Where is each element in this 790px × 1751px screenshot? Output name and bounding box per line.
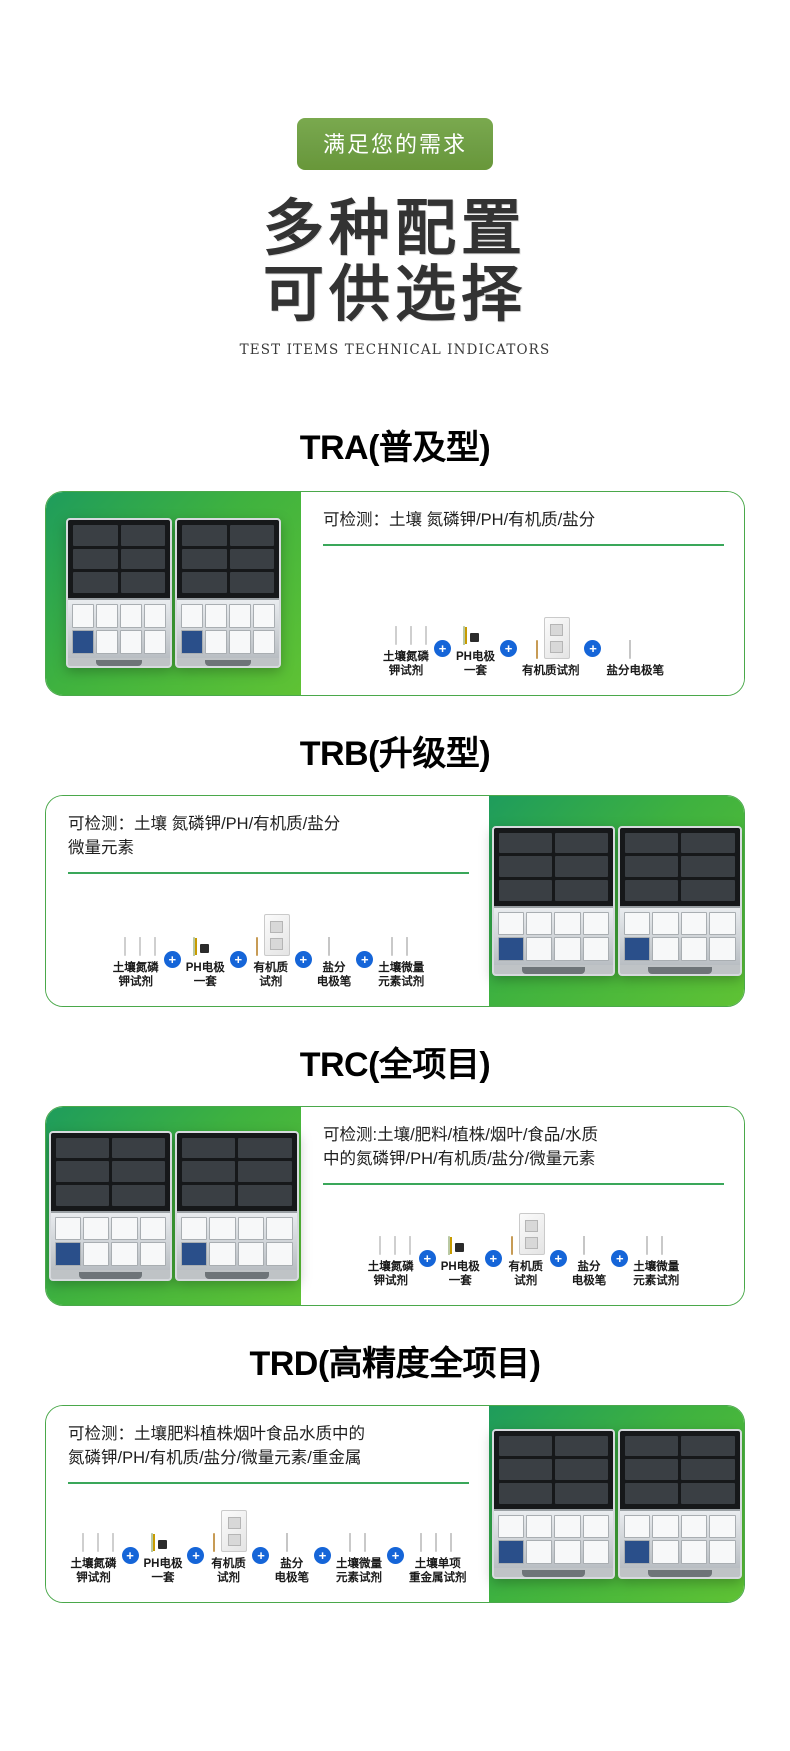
divider	[323, 1183, 724, 1185]
organic-reagent-icon	[252, 914, 290, 956]
plus-icon	[314, 1547, 331, 1564]
included-item: 盐分 电极笔	[274, 1496, 309, 1586]
salinity-pen-icon	[286, 1534, 298, 1552]
micro-element-bottles-icon	[642, 1237, 670, 1255]
card-info-pane: 可检测：土壤 氮磷钾/PH/有机质/盐分微量元素土壤氮磷 钾试剂PH电极 一套有…	[46, 796, 489, 1006]
included-item: 土壤微量 元素试剂	[378, 900, 424, 990]
ph-electrode-icon	[193, 938, 217, 956]
test-kit-case-photo	[492, 826, 742, 976]
included-item: PH电极 一套	[441, 1199, 480, 1289]
micro-element-bottles-icon	[387, 938, 415, 956]
card-photo-pane	[489, 1406, 744, 1602]
test-kit-case-photo	[49, 1131, 299, 1281]
plus-icon	[356, 951, 373, 968]
included-item: 盐分 电极笔	[572, 1199, 607, 1289]
item-art	[385, 589, 428, 645]
plus-icon	[611, 1250, 628, 1267]
test-kit-case-photo	[66, 518, 281, 668]
product-card-0[interactable]: 可检测：土壤 氮磷钾/PH/有机质/盐分土壤氮磷 钾试剂PH电极 一套有机质试剂…	[45, 491, 745, 696]
hero-badge: 满足您的需求	[297, 118, 493, 170]
included-item: 土壤微量 元素试剂	[633, 1199, 679, 1289]
included-item: 有机质试剂	[522, 603, 580, 678]
included-items-row: 土壤氮磷 钾试剂PH电极 一套有机质 试剂盐分 电极笔土壤微量 元素试剂	[68, 880, 469, 990]
detect-line-1: 中的氮磷钾/PH/有机质/盐分/微量元素	[323, 1148, 724, 1172]
card-info-pane: 可检测：土壤 氮磷钾/PH/有机质/盐分土壤氮磷 钾试剂PH电极 一套有机质试剂…	[301, 492, 744, 695]
item-art	[629, 603, 641, 659]
item-label: 土壤微量 元素试剂	[633, 1260, 679, 1289]
ph-electrode-icon	[151, 1534, 175, 1552]
ph-electrode-icon	[463, 627, 487, 645]
item-art	[448, 1199, 472, 1255]
item-label: 有机质 试剂	[253, 961, 288, 990]
divider	[68, 872, 469, 874]
plus-icon	[122, 1547, 139, 1564]
included-item: 有机质 试剂	[252, 900, 290, 990]
included-item: 土壤单项 重金属试剂	[409, 1496, 467, 1586]
reagent-bottles-icon	[72, 1534, 115, 1552]
item-art	[209, 1496, 247, 1552]
included-item: 盐分 电极笔	[317, 900, 352, 990]
detect-text: 可检测：土壤 氮磷钾/PH/有机质/盐分微量元素	[68, 813, 469, 861]
item-label: PH电极 一套	[144, 1557, 183, 1586]
item-art	[416, 1496, 459, 1552]
included-items-row: 土壤氮磷 钾试剂PH电极 一套有机质 试剂盐分 电极笔土壤微量 元素试剂土壤单项…	[68, 1490, 469, 1586]
detect-line-1: 氮磷钾/PH/有机质/盐分/微量元素/重金属	[68, 1447, 469, 1471]
item-art	[286, 1496, 298, 1552]
detect-text: 可检测:土壤/肥料/植株/烟叶/食品/水质中的氮磷钾/PH/有机质/盐分/微量元…	[323, 1124, 724, 1172]
salinity-pen-icon	[583, 1237, 595, 1255]
page-subtitle: TEST ITEMS TECHNICAL INDICATORS	[0, 342, 790, 358]
included-item: PH电极 一套	[144, 1496, 183, 1586]
card-info-pane: 可检测：土壤肥料植株烟叶食品水质中的氮磷钾/PH/有机质/盐分/微量元素/重金属…	[46, 1406, 489, 1602]
reagent-bottles-icon	[369, 1237, 412, 1255]
plus-icon	[550, 1250, 567, 1267]
item-label: 有机质 试剂	[508, 1260, 543, 1289]
plus-icon	[584, 640, 601, 657]
item-art	[252, 900, 290, 956]
included-item: 土壤氮磷 钾试剂	[383, 589, 429, 679]
test-kit-case-photo	[492, 1429, 742, 1579]
plus-icon	[434, 640, 451, 657]
item-art	[583, 1199, 595, 1255]
included-item: 土壤氮磷 钾试剂	[113, 900, 159, 990]
included-item: 有机质 试剂	[209, 1496, 247, 1586]
product-card-3[interactable]: 可检测：土壤肥料植株烟叶食品水质中的氮磷钾/PH/有机质/盐分/微量元素/重金属…	[45, 1405, 745, 1603]
divider	[323, 544, 724, 546]
salinity-pen-icon	[629, 641, 641, 659]
item-art	[387, 900, 415, 956]
item-label: 盐分 电极笔	[274, 1557, 309, 1586]
plus-icon	[419, 1250, 436, 1267]
detect-line-0: 可检测：土壤 氮磷钾/PH/有机质/盐分	[323, 509, 724, 533]
card-info-pane: 可检测:土壤/肥料/植株/烟叶/食品/水质中的氮磷钾/PH/有机质/盐分/微量元…	[301, 1107, 744, 1305]
item-art	[114, 900, 157, 956]
micro-element-bottles-icon	[345, 1534, 373, 1552]
item-label: 土壤氮磷 钾试剂	[368, 1260, 414, 1289]
organic-reagent-icon	[209, 1510, 247, 1552]
plus-icon	[500, 640, 517, 657]
included-item: 土壤氮磷 钾试剂	[71, 1496, 117, 1586]
item-label: 土壤氮磷 钾试剂	[71, 1557, 117, 1586]
item-art	[369, 1199, 412, 1255]
item-art	[532, 603, 570, 659]
plus-icon	[164, 951, 181, 968]
detect-text: 可检测：土壤 氮磷钾/PH/有机质/盐分	[323, 509, 724, 533]
product-card-1[interactable]: 可检测：土壤 氮磷钾/PH/有机质/盐分微量元素土壤氮磷 钾试剂PH电极 一套有…	[45, 795, 745, 1007]
plus-icon	[230, 951, 247, 968]
item-label: 土壤氮磷 钾试剂	[383, 650, 429, 679]
included-item: 有机质 试剂	[507, 1199, 545, 1289]
included-items-row: 土壤氮磷 钾试剂PH电极 一套有机质试剂盐分电极笔	[323, 552, 724, 679]
plus-icon	[187, 1547, 204, 1564]
included-item: 土壤微量 元素试剂	[336, 1496, 382, 1586]
item-art	[328, 900, 340, 956]
item-label: 土壤微量 元素试剂	[378, 961, 424, 990]
plus-icon	[295, 951, 312, 968]
item-label: 盐分电极笔	[606, 664, 664, 678]
reagent-bottles-icon	[385, 627, 428, 645]
plus-icon	[252, 1547, 269, 1564]
item-label: 土壤单项 重金属试剂	[409, 1557, 467, 1586]
card-photo-pane	[46, 492, 301, 695]
item-art	[72, 1496, 115, 1552]
item-label: PH电极 一套	[441, 1260, 480, 1289]
detect-line-1: 微量元素	[68, 837, 469, 861]
included-item: 土壤氮磷 钾试剂	[368, 1199, 414, 1289]
item-art	[151, 1496, 175, 1552]
item-label: 土壤微量 元素试剂	[336, 1557, 382, 1586]
micro-element-bottles-icon	[416, 1534, 459, 1552]
item-art	[345, 1496, 373, 1552]
item-art	[463, 589, 487, 645]
item-label: 土壤氮磷 钾试剂	[113, 961, 159, 990]
card-photo-pane	[489, 796, 744, 1006]
divider	[68, 1482, 469, 1484]
included-items-row: 土壤氮磷 钾试剂PH电极 一套有机质 试剂盐分 电极笔土壤微量 元素试剂	[323, 1191, 724, 1289]
item-art	[507, 1199, 545, 1255]
product-card-2[interactable]: 可检测:土壤/肥料/植株/烟叶/食品/水质中的氮磷钾/PH/有机质/盐分/微量元…	[45, 1106, 745, 1306]
included-item: 盐分电极笔	[606, 603, 664, 678]
salinity-pen-icon	[328, 938, 340, 956]
reagent-bottles-icon	[114, 938, 157, 956]
plus-icon	[387, 1547, 404, 1564]
detect-line-0: 可检测:土壤/肥料/植株/烟叶/食品/水质	[323, 1124, 724, 1148]
sections-container: TRA(普及型) 可检测：土壤 氮磷钾/PH/有机质/盐分土壤氮磷 钾试剂PH电…	[0, 420, 790, 1603]
ph-electrode-icon	[448, 1237, 472, 1255]
item-label: 有机质试剂	[522, 664, 580, 678]
detect-line-0: 可检测：土壤肥料植株烟叶食品水质中的	[68, 1423, 469, 1447]
item-label: PH电极 一套	[186, 961, 225, 990]
section-heading-0: TRA(普及型)	[0, 420, 790, 469]
page-title-line2: 可供选择	[0, 262, 790, 328]
item-art	[642, 1199, 670, 1255]
detect-line-0: 可检测：土壤 氮磷钾/PH/有机质/盐分	[68, 813, 469, 837]
plus-icon	[485, 1250, 502, 1267]
item-label: 有机质 试剂	[211, 1557, 246, 1586]
section-heading-3: TRD(高精度全项目)	[0, 1336, 790, 1385]
included-item: PH电极 一套	[186, 900, 225, 990]
card-photo-pane	[46, 1107, 301, 1305]
page-title: 多种配置 可供选择	[0, 196, 790, 328]
item-label: 盐分 电极笔	[572, 1260, 607, 1289]
organic-reagent-icon	[532, 617, 570, 659]
page-title-line1: 多种配置	[263, 193, 527, 264]
included-item: PH电极 一套	[456, 589, 495, 679]
item-art	[193, 900, 217, 956]
section-heading-1: TRB(升级型)	[0, 726, 790, 775]
hero-header: 满足您的需求 多种配置 可供选择 TEST ITEMS TECHNICAL IN…	[0, 0, 790, 358]
section-heading-2: TRC(全项目)	[0, 1037, 790, 1086]
detect-text: 可检测：土壤肥料植株烟叶食品水质中的氮磷钾/PH/有机质/盐分/微量元素/重金属	[68, 1423, 469, 1471]
item-label: 盐分 电极笔	[317, 961, 352, 990]
item-label: PH电极 一套	[456, 650, 495, 679]
organic-reagent-icon	[507, 1213, 545, 1255]
